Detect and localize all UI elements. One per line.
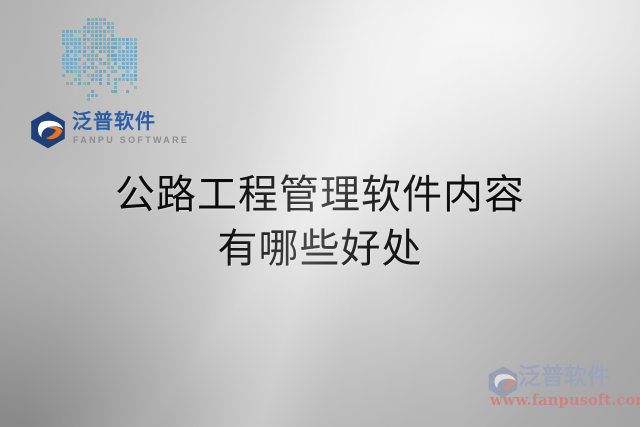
brand-wordmark: 泛普软件: [72, 109, 156, 133]
page-title: 公路工程管理软件内容 有哪些好处: [0, 168, 640, 276]
page-title-line-2: 有哪些好处: [0, 222, 640, 276]
fanpu-hexagon-swoosh-icon: [28, 110, 68, 150]
skyline-tower: [83, 18, 115, 106]
page-title-line-1: 公路工程管理软件内容: [0, 168, 640, 222]
brand-subtitle: FANPU SOFTWARE: [73, 135, 189, 145]
brand-logo: 泛普软件 FANPU SOFTWARE: [28, 107, 178, 155]
skyline-tower: [62, 30, 82, 106]
watermark-url: www.fanpusoft.com: [490, 392, 640, 409]
skyline-tower: [114, 38, 138, 106]
slide-canvas: 泛普软件 FANPU SOFTWARE 公路工程管理软件内容 有哪些好处 泛普软…: [0, 0, 640, 427]
pixel-mosaic-skyline-icon: [58, 18, 144, 106]
watermark-wordmark: 泛普软件: [518, 363, 610, 391]
watermark: 泛普软件 www.fanpusoft.com: [478, 361, 636, 419]
